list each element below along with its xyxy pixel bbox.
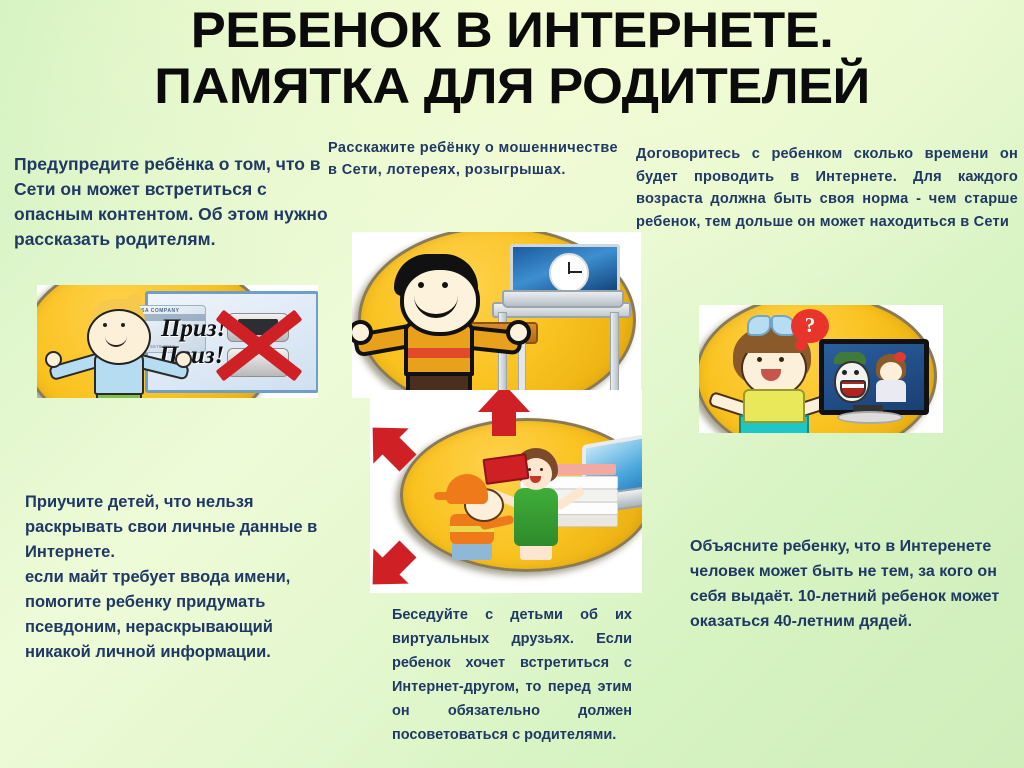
girl-shirt <box>743 389 805 423</box>
desk-leg-right <box>610 312 619 392</box>
woman-eye-right <box>540 468 543 471</box>
slide-canvas: РЕБЕНОК В ИНТЕРНЕТЕ. ПАМЯТКА ДЛЯ РОДИТЕЛ… <box>0 0 1024 768</box>
virtual-girl-avatar <box>872 354 910 402</box>
woman-legs <box>520 544 552 560</box>
title-line-1: РЕБЕНОК В ИНТЕРНЕТЕ. <box>191 2 834 58</box>
boy-eye-right <box>121 323 125 327</box>
tip-virtual-friends: Беседуйте с детьми об их виртуальных дру… <box>392 603 632 745</box>
hair-bow-icon <box>747 315 791 333</box>
monitor-screen <box>819 339 929 415</box>
illustration-virtual-friends <box>370 390 642 593</box>
boy-eye-right <box>442 282 448 288</box>
boy-hand-right <box>506 320 531 345</box>
clock-icon <box>549 253 589 293</box>
computer-monitor <box>819 339 919 423</box>
red-cross-out-icon <box>213 305 305 385</box>
girl-eye-right <box>779 357 784 362</box>
title-line-2: ПАМЯТКА ДЛЯ РОДИТЕЛЕЙ <box>0 58 1024 114</box>
laptop-keyboard <box>502 290 624 308</box>
illustration-prize-scam: ASA COMPANY 1234 5678 9012 Приз! Приз! <box>37 285 318 398</box>
page-title: РЕБЕНОК В ИНТЕРНЕТЕ. ПАМЯТКА ДЛЯ РОДИТЕЛ… <box>0 2 1024 114</box>
tip-screen-time: Договоритесь с ребенком сколько времени … <box>636 143 1018 233</box>
child-character <box>442 474 508 560</box>
girl-eye-left <box>757 357 762 362</box>
boy-character <box>61 299 171 398</box>
boy-hand-right <box>175 351 192 368</box>
masked-stranger-icon <box>830 352 870 402</box>
boy-stretching-character <box>370 254 510 394</box>
stranger-eye-right <box>854 370 859 375</box>
monitor-base <box>837 411 903 424</box>
boy-eye-left <box>418 282 424 288</box>
laptop <box>502 244 620 304</box>
tip-online-strangers: Объясните ребенку, что в Интеренете чело… <box>690 534 1010 634</box>
illustration-screen-time <box>352 232 641 398</box>
boy-eye-left <box>103 323 107 327</box>
child-cap <box>446 474 488 504</box>
avatar-bow-icon <box>894 352 906 362</box>
tip-personal-data: Приучите детей, что нельзя раскрывать св… <box>25 490 340 665</box>
avatar-face <box>880 362 902 382</box>
stranger-grin <box>840 380 866 398</box>
tip-online-fraud: Расскажите ребёнку о мошенничестве в Сет… <box>328 137 628 181</box>
tip-dangerous-content: Предупредите ребёнка о том, что в Сети о… <box>14 152 329 252</box>
question-mark-label: ? <box>791 313 829 338</box>
stranger-eye-left <box>842 370 847 375</box>
shirt-stripe <box>408 348 470 358</box>
child-pants <box>452 542 492 560</box>
question-speech-bubble: ? <box>791 309 829 343</box>
woman-dress <box>514 488 558 546</box>
avatar-body <box>876 380 906 402</box>
boy-hand-left <box>45 351 62 368</box>
illustration-online-stranger: ? <box>699 305 943 433</box>
